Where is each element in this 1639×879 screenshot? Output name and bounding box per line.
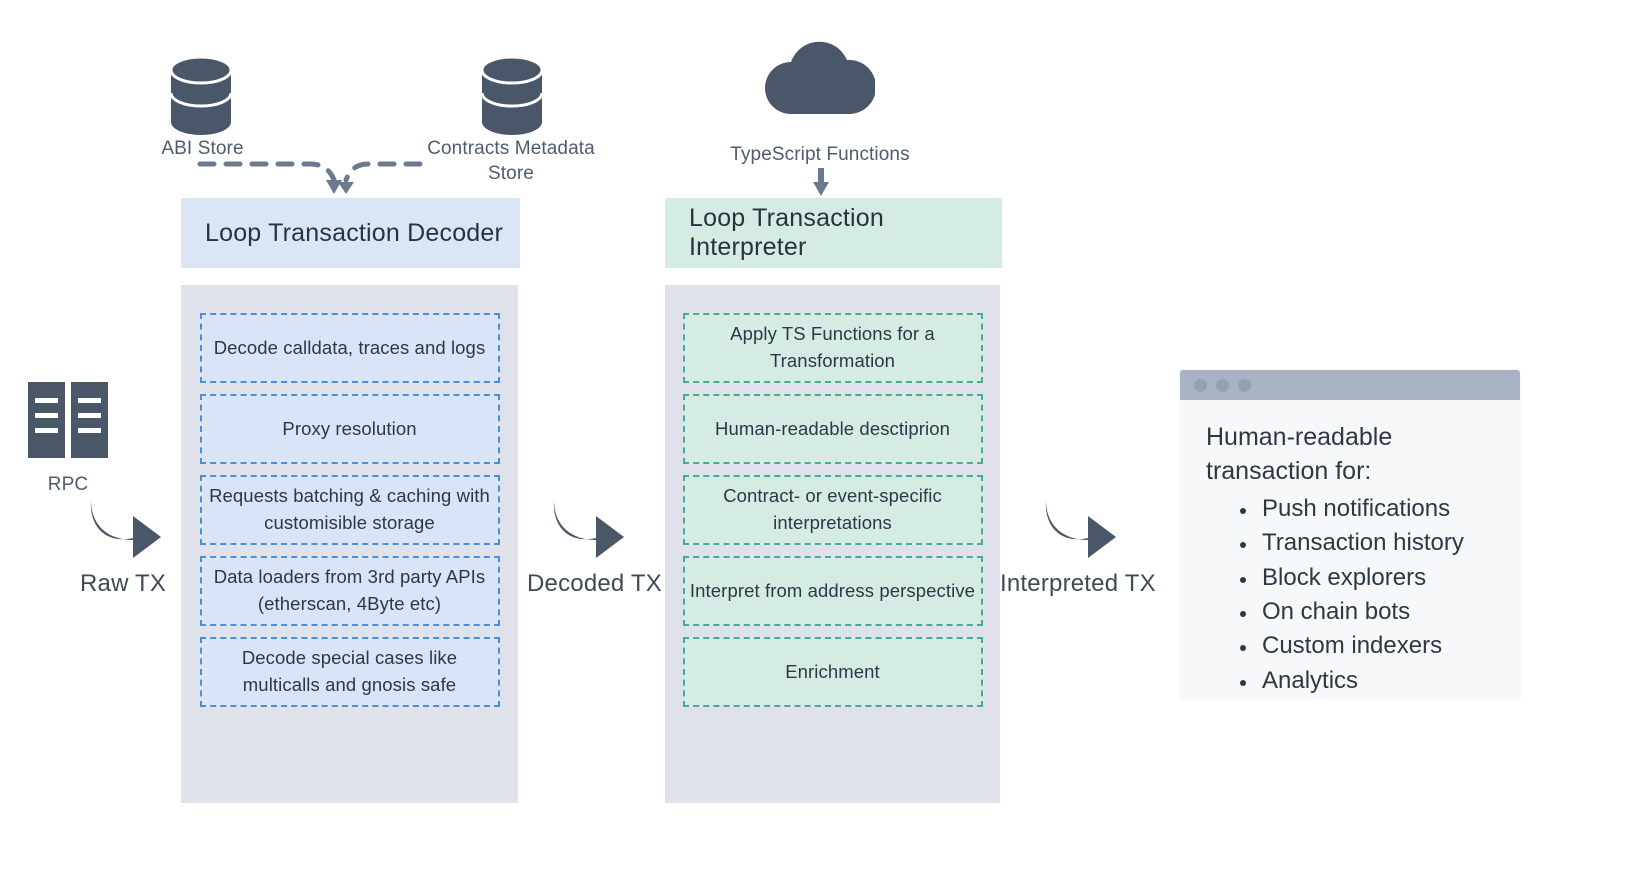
abi-store-icon <box>168 57 234 140</box>
interpreter-step[interactable]: Human-readable desctiprion <box>683 394 983 464</box>
decoder-header: Loop Transaction Decoder <box>181 198 520 268</box>
window-close-dot-icon[interactable] <box>1194 379 1207 392</box>
window-title-bar[interactable] <box>1180 370 1520 400</box>
typescript-functions-label: TypeScript Functions <box>700 142 940 167</box>
decoded-tx-label: Decoded TX <box>527 570 662 598</box>
interpreter-step[interactable]: Interpret from address perspective <box>683 556 983 626</box>
store-connector-lines <box>190 150 430 203</box>
contracts-metadata-store-label: Contracts Metadata Store <box>420 136 602 186</box>
interpreter-header: Loop Transaction Interpreter <box>665 198 1002 268</box>
window-maximize-dot-icon[interactable] <box>1238 379 1251 392</box>
list-item: Custom indexers <box>1240 629 1494 663</box>
output-use-case-list: Push notifications Transaction history B… <box>1206 492 1494 698</box>
interpreter-steps-panel: Apply TS Functions for a Transformation … <box>665 285 1000 803</box>
output-window-body: Human-readable transaction for: Push not… <box>1180 400 1520 700</box>
interpreter-step[interactable]: Contract- or event-specific interpretati… <box>683 475 983 545</box>
decoder-step[interactable]: Decode special cases like multicalls and… <box>200 637 500 707</box>
output-window-title: Human-readable transaction for: <box>1206 420 1494 488</box>
list-item: On chain bots <box>1240 595 1494 629</box>
list-item: Analytics <box>1240 664 1494 698</box>
decoder-step[interactable]: Requests batching & caching with customi… <box>200 475 500 545</box>
interpreter-step[interactable]: Apply TS Functions for a Transformation <box>683 313 983 383</box>
list-item: Push notifications <box>1240 492 1494 526</box>
decoder-step[interactable]: Proxy resolution <box>200 394 500 464</box>
interpreted-tx-arrow-icon <box>1040 492 1120 569</box>
decoder-steps-panel: Decode calldata, traces and logs Proxy r… <box>181 285 518 803</box>
decoder-step[interactable]: Data loaders from 3rd party APIs (ethers… <box>200 556 500 626</box>
diagram-canvas: ABI Store Contracts Metadata Store TypeS… <box>0 0 1639 879</box>
raw-tx-label: Raw TX <box>80 570 166 598</box>
raw-tx-arrow-icon <box>85 492 165 569</box>
window-minimize-dot-icon[interactable] <box>1216 379 1229 392</box>
output-window: Human-readable transaction for: Push not… <box>1180 370 1520 700</box>
typescript-functions-icon <box>765 40 875 123</box>
rpc-server-icon <box>28 382 108 463</box>
decoded-tx-arrow-icon <box>548 492 628 569</box>
interpreter-step[interactable]: Enrichment <box>683 637 983 707</box>
list-item: Block explorers <box>1240 561 1494 595</box>
contracts-metadata-store-icon <box>479 57 545 140</box>
list-item: Transaction history <box>1240 526 1494 560</box>
decoder-step[interactable]: Decode calldata, traces and logs <box>200 313 500 383</box>
interpreted-tx-label: Interpreted TX <box>1000 570 1156 598</box>
